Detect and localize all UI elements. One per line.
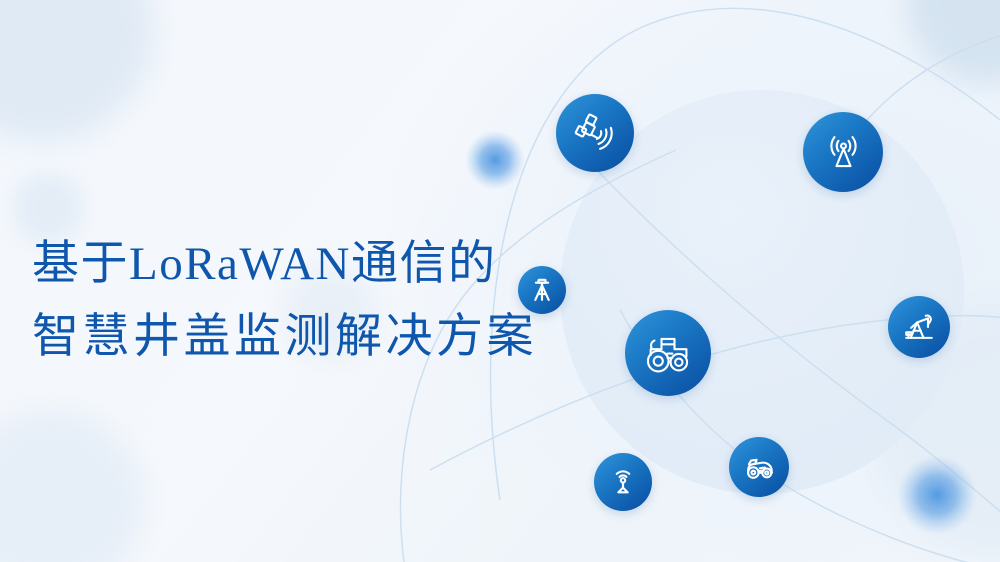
network-node-beacon[interactable] (594, 453, 652, 511)
title-line-1: 基于LoRaWAN通信的 (32, 228, 537, 301)
robot-mower-icon (742, 450, 777, 485)
slide-canvas: 基于LoRaWAN通信的 智慧井盖监测解决方案 (0, 0, 1000, 562)
network-node-tractor[interactable] (625, 310, 711, 396)
blob-bottom-left (0, 410, 144, 562)
oil-pumpjack-icon (901, 309, 937, 345)
tractor-icon (642, 327, 694, 379)
title-line-2: 智慧井盖监测解决方案 (32, 301, 537, 374)
slide-title: 基于LoRaWAN通信的 智慧井盖监测解决方案 (32, 228, 537, 374)
glow-dot-bottom-right (897, 455, 977, 535)
satellite-icon (573, 111, 617, 155)
network-node-satellite[interactable] (556, 94, 634, 172)
glow-dot-left (465, 130, 525, 190)
network-node-mower[interactable] (729, 437, 789, 497)
radio-tower-icon (821, 130, 866, 175)
blob-top-left (0, 0, 154, 142)
network-node-tower[interactable] (803, 112, 883, 192)
wireless-beacon-icon (607, 466, 639, 498)
blob-top-right (906, 0, 1000, 84)
network-node-pumpjack[interactable] (888, 296, 950, 358)
